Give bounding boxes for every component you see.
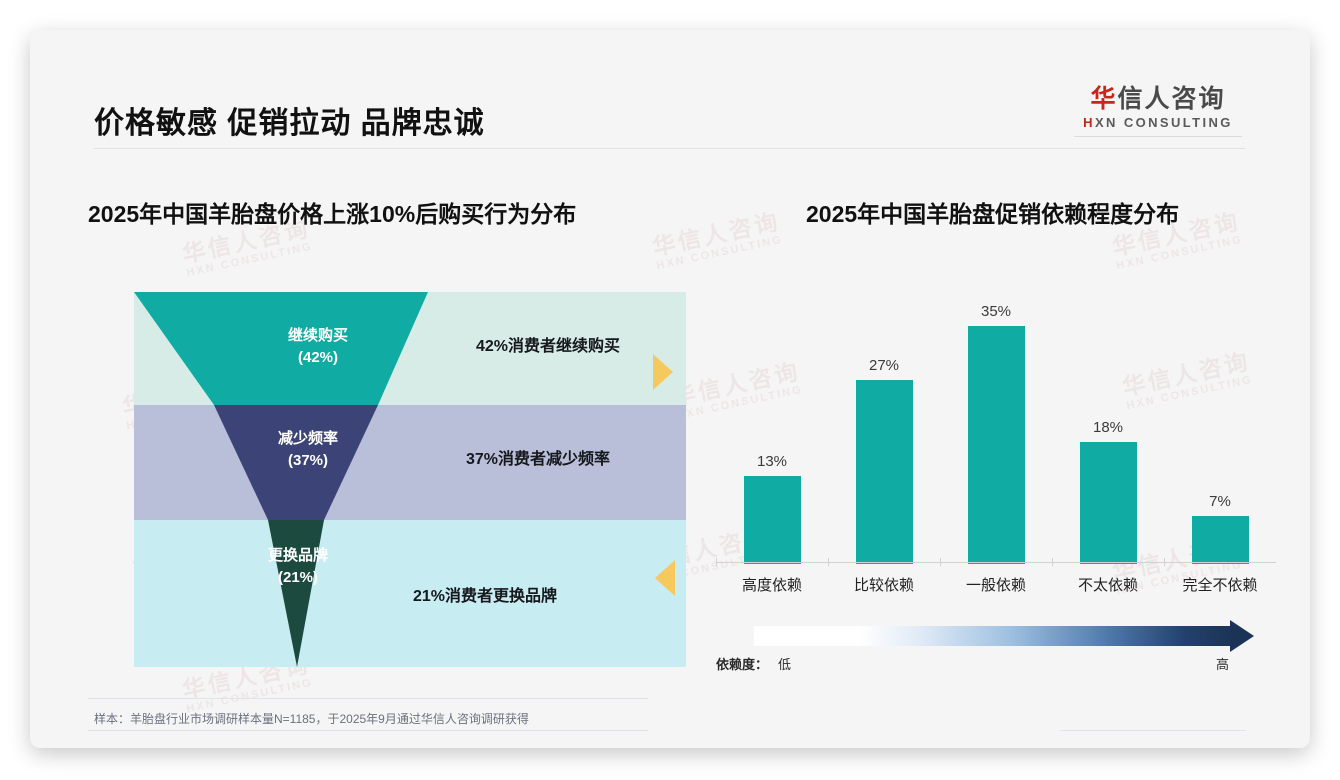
bar-rect <box>968 326 1025 564</box>
bar-chart: 13%27%35%18%7% 高度依赖比较依赖一般依赖不太依赖完全不依赖 <box>716 292 1276 602</box>
bar-category-label: 完全不依赖 <box>1164 574 1276 595</box>
axis-tick <box>940 558 941 566</box>
bar-value-label: 18% <box>1052 419 1164 436</box>
logo-cn-rest: 信人咨询 <box>1118 85 1226 113</box>
bar-value-label: 35% <box>940 303 1052 320</box>
bar-column: 35% <box>940 292 1052 564</box>
website-text: www.hxrcon.com <box>1114 746 1205 748</box>
bar-value-label: 27% <box>828 357 940 374</box>
bar-column: 13% <box>716 292 828 564</box>
watermark-line2: HXN CONSULTING <box>185 241 315 280</box>
company-logo: 华信人咨询 HXN CONSULTING <box>1068 86 1248 137</box>
left-chart-title: 2025年中国羊胎盘价格上涨10%后购买行为分布 <box>88 195 576 229</box>
funnel-segment-label-1: 继续购买 (42%) <box>238 325 398 369</box>
watermark-line2: HXN CONSULTING <box>1115 234 1245 273</box>
bar-rect <box>856 380 913 564</box>
bar-container: 13%27%35%18%7% <box>716 292 1276 564</box>
watermark: 华信人咨询 HXN CONSULTING <box>650 208 785 273</box>
bar-value-label: 13% <box>716 453 828 470</box>
logo-cn-first-char: 华 <box>1090 85 1117 113</box>
dependency-scale: 依赖度： 低 高 <box>716 626 1276 682</box>
watermark-line2: HXN CONSULTING <box>655 234 785 273</box>
bar-rect <box>1080 442 1137 564</box>
axis-tick <box>716 558 717 566</box>
arrow-right-icon <box>653 354 673 390</box>
axis-tick <box>1164 558 1165 566</box>
header-divider <box>94 148 1246 149</box>
funnel-label-value-2: (37%) <box>288 452 328 469</box>
funnel-segment-3 <box>268 520 324 667</box>
funnel-label-value-1: (42%) <box>298 349 338 366</box>
footnote-divider-top <box>88 698 648 699</box>
funnel-label-text-1: 继续购买 <box>288 327 348 344</box>
scale-gradient-bar <box>754 626 1232 646</box>
logo-en-rest: XN CONSULTING <box>1095 115 1233 130</box>
footer-divider-right <box>1060 730 1246 731</box>
funnel-segment-label-2: 减少频率 (37%) <box>228 428 388 472</box>
page-title: 价格敏感 促销拉动 品牌忠诚 <box>94 98 485 142</box>
x-axis-line <box>716 562 1276 563</box>
bar-category-label: 不太依赖 <box>1052 574 1164 595</box>
bar-category-label: 一般依赖 <box>940 574 1052 595</box>
scale-low-label: 低 <box>778 654 791 673</box>
right-chart-title: 2025年中国羊胎盘促销依赖程度分布 <box>806 195 1179 229</box>
funnel-label-text-2: 减少频率 <box>278 430 338 447</box>
axis-tick <box>828 558 829 566</box>
bar-category-label: 高度依赖 <box>716 574 828 595</box>
bar-column: 27% <box>828 292 940 564</box>
bar-column: 18% <box>1052 292 1164 564</box>
scale-high-label: 高 <box>1216 654 1229 673</box>
logo-en-first-char: H <box>1083 115 1095 130</box>
funnel-segment-label-3: 更换品牌 (21%) <box>218 545 378 589</box>
watermark-line1: 华信人咨询 <box>650 208 783 261</box>
scale-title: 依赖度： <box>716 654 768 673</box>
bar-rect <box>744 476 801 564</box>
slide-card: 价格敏感 促销拉动 品牌忠诚 华信人咨询 HXN CONSULTING 华信人咨… <box>30 30 1310 748</box>
axis-tick <box>1052 558 1053 566</box>
funnel-label-text-3: 更换品牌 <box>268 547 328 564</box>
bar-category-label: 比较依赖 <box>828 574 940 595</box>
bar-column: 7% <box>1164 292 1276 564</box>
funnel-chart: 42%消费者继续购买 37%消费者减少频率 21%消费者更换品牌 继续购买 (4… <box>88 280 648 680</box>
bar-value-label: 7% <box>1164 493 1276 510</box>
logo-english-text: HXN CONSULTING <box>1068 115 1248 130</box>
footnote-text: 样本：羊胎盘行业市场调研样本量N=1185，于2025年9月通过华信人咨询调研获… <box>94 710 529 727</box>
logo-chinese-text: 华信人咨询 <box>1068 86 1248 112</box>
funnel-label-value-3: (21%) <box>278 569 318 586</box>
scale-arrowhead-icon <box>1230 620 1254 652</box>
footnote-divider-bottom <box>88 730 648 731</box>
bar-rect <box>1192 516 1249 564</box>
logo-underline <box>1074 136 1242 137</box>
arrow-left-icon <box>655 560 675 596</box>
copyright-text: ©2025.11 HXR华信人咨询 <box>94 746 234 748</box>
